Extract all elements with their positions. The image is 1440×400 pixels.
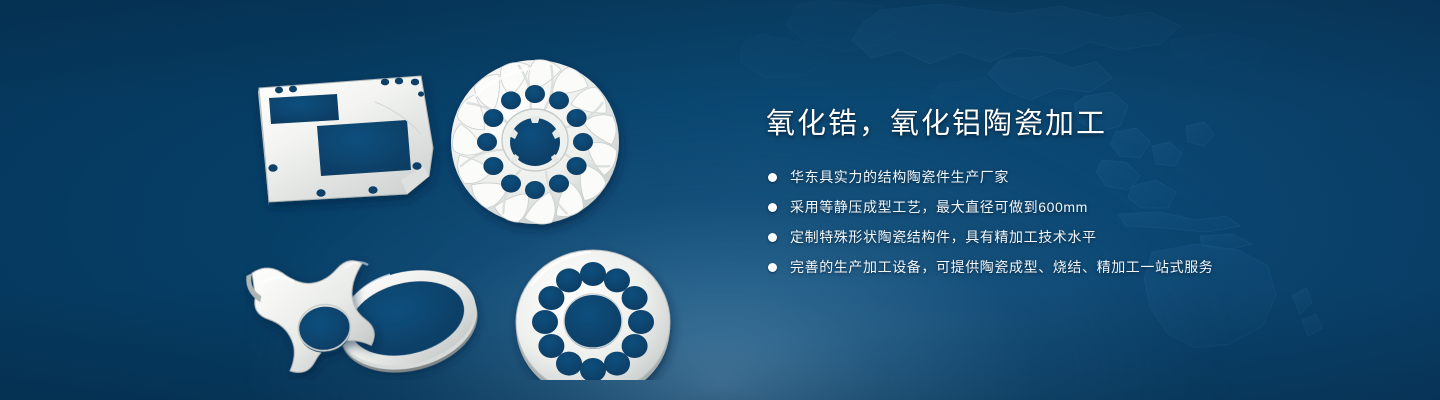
feature-list: 华东具实力的结构陶瓷件生产厂家 采用等静压成型工艺，最大直径可做到600mm 定… xyxy=(766,166,1386,278)
list-item: 采用等静压成型工艺，最大直径可做到600mm xyxy=(766,196,1386,218)
banner-copy: 氧化锆，氧化铝陶瓷加工 华东具实力的结构陶瓷件生产厂家 采用等静压成型工艺，最大… xyxy=(766,106,1386,286)
list-item-label: 定制特殊形状陶瓷结构件，具有精加工技术水平 xyxy=(790,229,1097,245)
list-item: 定制特殊形状陶瓷结构件，具有精加工技术水平 xyxy=(766,226,1386,248)
bullet-dot-icon xyxy=(768,173,777,182)
list-item: 华东具实力的结构陶瓷件生产厂家 xyxy=(766,166,1386,188)
list-item-label: 完善的生产加工设备，可提供陶瓷成型、烧结、精加工一站式服务 xyxy=(790,259,1213,275)
ceramic-plate-part xyxy=(258,76,433,206)
bullet-dot-icon xyxy=(768,203,777,212)
ceramic-perforated-disc-part xyxy=(516,250,670,380)
promo-banner: 氧化锆，氧化铝陶瓷加工 华东具实力的结构陶瓷件生产厂家 采用等静压成型工艺，最大… xyxy=(0,0,1440,400)
bullet-dot-icon xyxy=(768,233,777,242)
ceramic-products-photo-group xyxy=(225,30,715,380)
list-item-label: 采用等静压成型工艺，最大直径可做到600mm xyxy=(790,199,1088,215)
bullet-dot-icon xyxy=(768,263,777,272)
ceramic-impeller-part xyxy=(450,56,621,228)
page-title: 氧化锆，氧化铝陶瓷加工 xyxy=(766,106,1386,143)
list-item-label: 华东具实力的结构陶瓷件生产厂家 xyxy=(790,169,1009,185)
list-item: 完善的生产加工设备，可提供陶瓷成型、烧结、精加工一站式服务 xyxy=(766,256,1386,278)
